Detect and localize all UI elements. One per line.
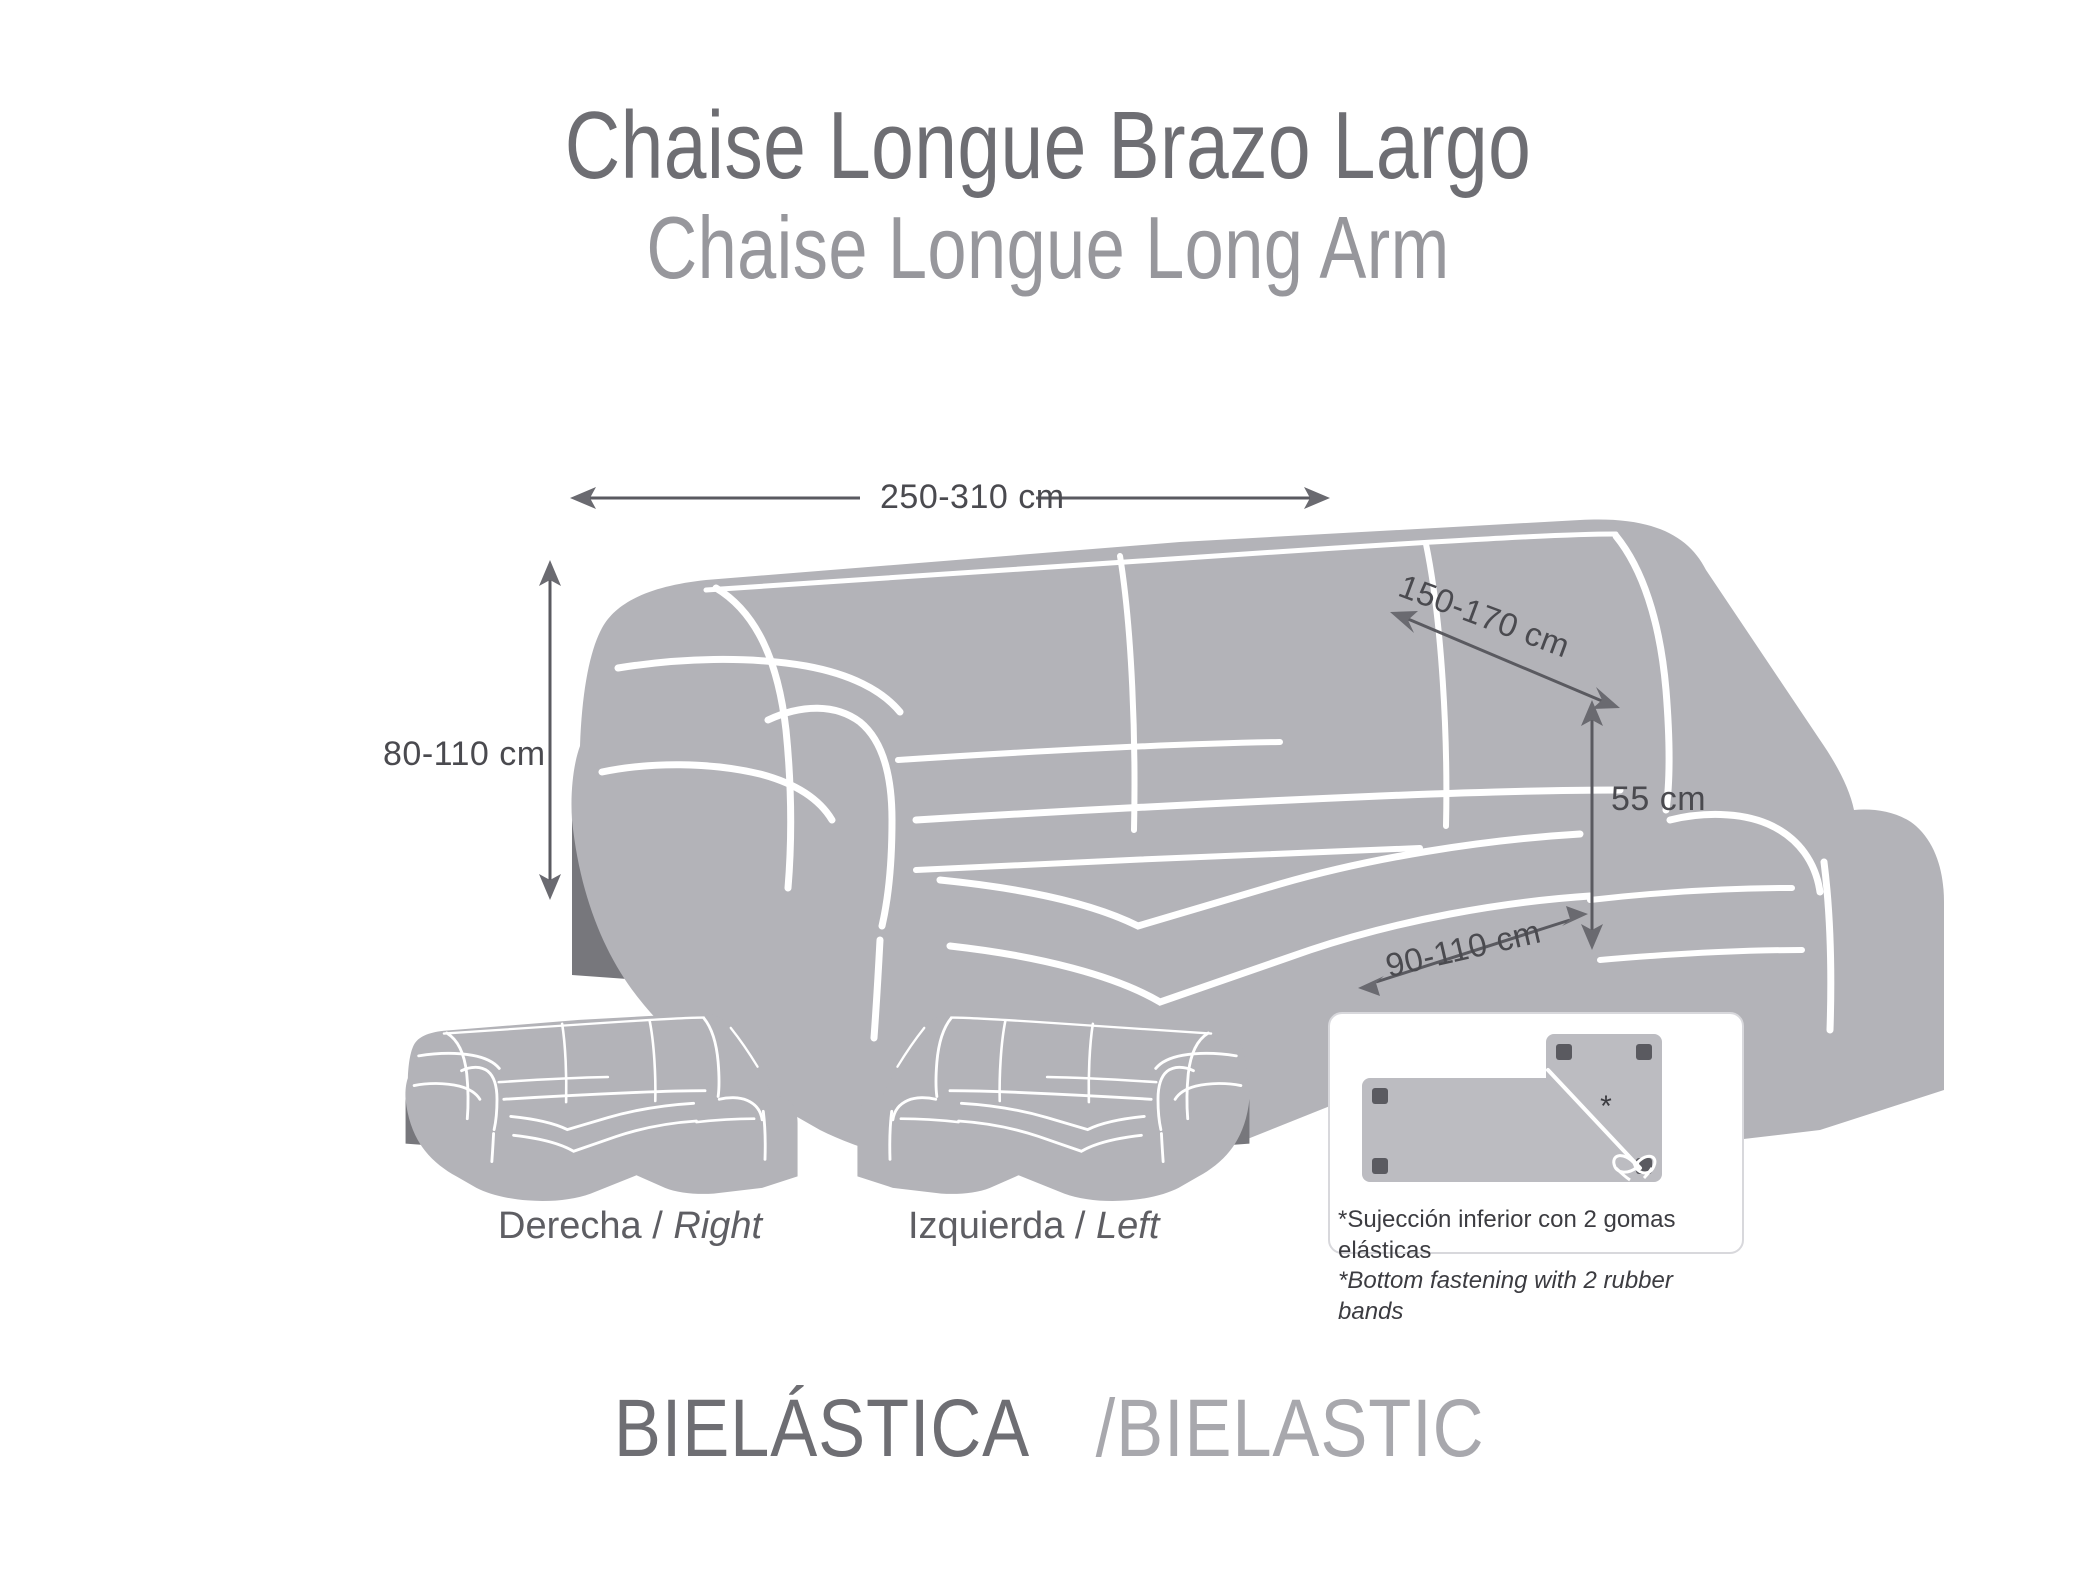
dimension-label-width: 250-310 cm: [880, 478, 1065, 517]
caption-right-en: Right: [673, 1205, 762, 1247]
dimension-label-height: 80-110 cm: [383, 735, 546, 774]
caption-variant-left: Izquierda / Left: [908, 1205, 1159, 1248]
caption-variant-right: Derecha / Right: [498, 1205, 762, 1248]
info-note-spanish: *Sujección inferior con 2 gomas elástica…: [1338, 1205, 1738, 1266]
caption-right-sep: /: [642, 1205, 674, 1247]
variant-thumbnail-right: [390, 1005, 820, 1205]
info-note-english: *Bottom fastening with 2 rubber bands: [1338, 1266, 1738, 1327]
bielastic-banner: BIELÁSTICA/BIELASTIC: [0, 1382, 2096, 1476]
variant-thumbnail-left: [835, 1005, 1265, 1205]
banner-english: /BIELASTIC: [1096, 1382, 1485, 1476]
title-spanish: Chaise Longue Brazo Largo: [210, 96, 1887, 196]
banner-spanish: BIELÁSTICA: [614, 1382, 1030, 1476]
asterisk-marker: *: [1600, 1090, 1612, 1123]
caption-left-es: Izquierda: [908, 1205, 1064, 1247]
dimension-label-seat-height: 55 cm: [1611, 780, 1706, 819]
title-english: Chaise Longue Long Arm: [210, 200, 1887, 295]
caption-left-sep: /: [1064, 1205, 1096, 1247]
product-diagram: Chaise Longue Brazo Largo Chaise Longue …: [0, 0, 2096, 1572]
info-box-note: *Sujección inferior con 2 gomas elástica…: [1338, 1205, 1738, 1328]
caption-right-es: Derecha: [498, 1205, 642, 1247]
footprint-diagram: *: [1358, 1030, 1718, 1190]
page-title: Chaise Longue Brazo Largo Chaise Longue …: [0, 96, 2096, 295]
caption-left-en: Left: [1096, 1205, 1159, 1247]
double-arrow-vertical-icon: [530, 560, 570, 900]
